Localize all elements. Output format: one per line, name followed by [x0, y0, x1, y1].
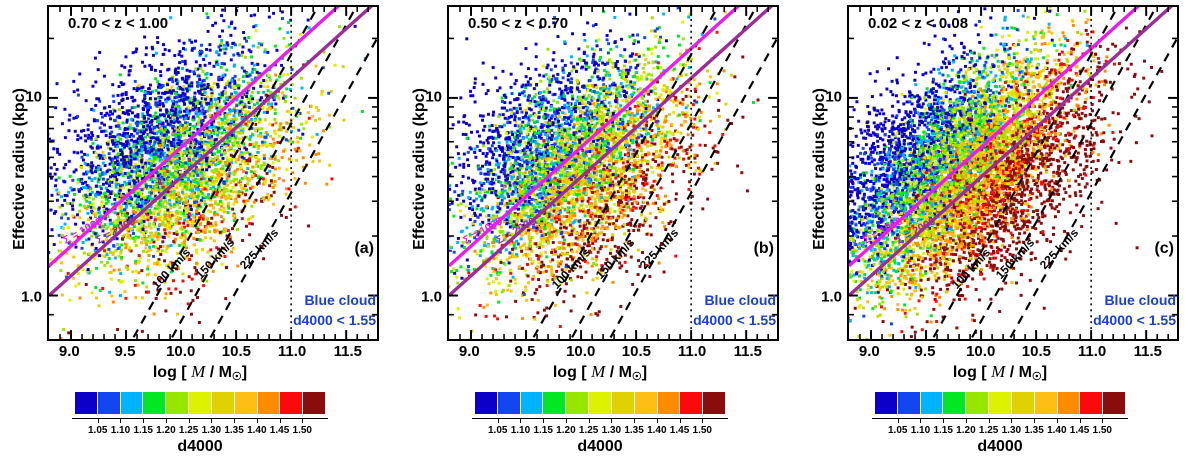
colorbar-tick-label: 1.25: [179, 425, 198, 436]
colorbar-swatch: [612, 392, 634, 414]
xlabel-suffix: ]: [242, 364, 247, 381]
colorbar-tick-label: 1.20: [956, 425, 975, 436]
xlabel-prefix: log [: [153, 364, 187, 381]
xlabel-suffix: ]: [642, 364, 647, 381]
colorbar-tick-label: 1.20: [556, 425, 575, 436]
colorbar-tick-label: 1.25: [579, 425, 598, 436]
panel-a: Σ = 1000Σ = 2000100 km/s150 km/s225 km/s…: [0, 0, 400, 458]
colorbar-swatch: [658, 392, 680, 414]
xlabel-sun-subscript: ☉: [632, 371, 642, 383]
xlabel-mid: / M: [1010, 364, 1032, 381]
colorbar-tick-mark: [611, 418, 612, 423]
colorbar-swatch: [566, 392, 588, 414]
colorbar-tick-label: 1.15: [933, 425, 952, 436]
colorbar-swatch: [258, 392, 280, 414]
colorbar-tick-mark: [302, 418, 303, 423]
colorbar-swatch: [966, 392, 988, 414]
x-tick-label: 11.0: [1078, 343, 1106, 360]
colorbar-swatch: [680, 392, 702, 414]
colorbar-swatch: [1035, 392, 1057, 414]
xlabel-mass-symbol: M: [991, 362, 1005, 381]
colorbar-tick-label: 1.15: [133, 425, 152, 436]
colorbar-tick-label: 1.05: [888, 425, 907, 436]
colorbar-axis-line: [72, 418, 328, 419]
x-tick-label: 9.0: [59, 343, 80, 360]
x-tick-label: 10.0: [966, 343, 995, 360]
colorbar-swatch: [498, 392, 520, 414]
xlabel-sun-subscript: ☉: [232, 371, 242, 383]
legend-line1: Blue cloud: [293, 290, 376, 310]
colorbar-swatch: [475, 392, 497, 414]
x-tick-label: 11.5: [1134, 343, 1162, 360]
colorbar-tick-mark: [543, 418, 544, 423]
colorbar-label: d4000: [800, 438, 1200, 456]
colorbar-tick-mark: [257, 418, 258, 423]
colorbar-swatch: [303, 392, 325, 414]
colorbar-swatch: [1058, 392, 1080, 414]
colorbar-tick-mark: [234, 418, 235, 423]
colorbar-tick-label: 1.45: [1070, 425, 1089, 436]
colorbar-swatch: [98, 392, 120, 414]
colorbar-axis-line: [472, 418, 728, 419]
colorbar-tick-mark: [920, 418, 921, 423]
x-tick-label: 11.0: [278, 343, 306, 360]
colorbar-swatch: [898, 392, 920, 414]
colorbar-swatch: [212, 392, 234, 414]
colorbar-tick-label: 1.35: [224, 425, 243, 436]
colorbar-tick-mark: [943, 418, 944, 423]
x-tick-label: 10.0: [566, 343, 595, 360]
colorbar-swatch: [75, 392, 97, 414]
panel-c: Σ = 1000Σ = 2000100 km/s150 km/s225 km/s…: [800, 0, 1200, 458]
colorbar-tick-label: 1.45: [270, 425, 289, 436]
colorbar-tick-label: 1.05: [488, 425, 507, 436]
redshift-range-label-c: 0.02 < z < 0.08: [868, 15, 968, 32]
xlabel-suffix: ]: [1042, 364, 1047, 381]
y-axis-label: Effective radius (kpc): [11, 14, 29, 324]
colorbar-tick-label: 1.05: [88, 425, 107, 436]
legend-line1: Blue cloud: [1093, 290, 1176, 310]
y-axis-label: Effective radius (kpc): [811, 14, 829, 324]
colorbar-tick-mark: [166, 418, 167, 423]
colorbar-tick-mark: [189, 418, 190, 423]
colorbar-label: d4000: [400, 438, 800, 456]
xlabel-prefix: log [: [953, 364, 987, 381]
colorbar-tick-label: 1.20: [156, 425, 175, 436]
panel-b: Σ = 1000Σ = 2000100 km/s150 km/s225 km/s…: [400, 0, 800, 458]
colorbar-label: d4000: [0, 438, 400, 456]
x-tick-label: 10.5: [622, 343, 651, 360]
legend-a: Blue cloudd4000 < 1.55: [293, 290, 376, 331]
legend-line2: d4000 < 1.55: [1093, 310, 1176, 330]
colorbar-tick-label: 1.30: [602, 425, 621, 436]
x-tick-label: 11.5: [734, 343, 762, 360]
colorbar-tick-mark: [989, 418, 990, 423]
x-tick-label: 9.5: [915, 343, 936, 360]
legend-line2: d4000 < 1.55: [293, 310, 376, 330]
panel-letter-c: (c): [1154, 240, 1174, 258]
colorbar-tick-mark: [680, 418, 681, 423]
colorbar-tick-mark: [966, 418, 967, 423]
colorbar-tick-mark: [1080, 418, 1081, 423]
colorbar-tick-label: 1.10: [111, 425, 130, 436]
colorbar-swatch: [1103, 392, 1125, 414]
colorbar-tick-mark: [634, 418, 635, 423]
panel-letter-b: (b): [754, 240, 774, 258]
x-tick-label: 9.5: [115, 343, 136, 360]
colorbar-swatch: [143, 392, 165, 414]
colorbar-tick-label: 1.15: [533, 425, 552, 436]
colorbar-tick-label: 1.30: [1002, 425, 1021, 436]
colorbar-tick-label: 1.40: [647, 425, 666, 436]
colorbar-tick-label: 1.50: [693, 425, 712, 436]
colorbar-tick-mark: [98, 418, 99, 423]
colorbar-swatch: [703, 392, 725, 414]
colorbar-tick-label: 1.10: [511, 425, 530, 436]
legend-c: Blue cloudd4000 < 1.55: [1093, 290, 1176, 331]
xlabel-mass-symbol: M: [191, 362, 205, 381]
colorbar-b: [475, 392, 725, 414]
colorbar-swatch: [280, 392, 302, 414]
colorbar-tick-mark: [211, 418, 212, 423]
colorbar-a: [75, 392, 325, 414]
figure-root: Σ = 1000Σ = 2000100 km/s150 km/s225 km/s…: [0, 0, 1200, 458]
colorbar-swatch: [921, 392, 943, 414]
x-axis-label: log [ M / M☉]: [800, 362, 1200, 383]
colorbar-tick-label: 1.50: [293, 425, 312, 436]
colorbar-tick-label: 1.50: [1093, 425, 1112, 436]
colorbar-tick-mark: [589, 418, 590, 423]
legend-b: Blue cloudd4000 < 1.55: [693, 290, 776, 331]
colorbar-tick-label: 1.30: [202, 425, 221, 436]
colorbar-tick-label: 1.45: [670, 425, 689, 436]
colorbar-swatch: [189, 392, 211, 414]
x-axis-label: log [ M / M☉]: [400, 362, 800, 383]
xlabel-mid: / M: [210, 364, 232, 381]
colorbar-axis-line: [872, 418, 1128, 419]
y-axis-label: Effective radius (kpc): [411, 14, 429, 324]
x-tick-label: 9.5: [515, 343, 536, 360]
x-tick-label: 9.0: [859, 343, 880, 360]
colorbar-tick-mark: [566, 418, 567, 423]
xlabel-mid: / M: [610, 364, 632, 381]
x-tick-label: 11.0: [678, 343, 706, 360]
colorbar-tick-label: 1.25: [979, 425, 998, 436]
colorbar-swatch: [166, 392, 188, 414]
x-tick-label: 10.0: [166, 343, 195, 360]
colorbar-swatch: [1012, 392, 1034, 414]
redshift-range-label-b: 0.50 < z < 0.70: [468, 15, 568, 32]
colorbar-tick-mark: [280, 418, 281, 423]
colorbar-tick-label: 1.10: [911, 425, 930, 436]
legend-line2: d4000 < 1.55: [693, 310, 776, 330]
colorbar-tick-mark: [1034, 418, 1035, 423]
colorbar-tick-mark: [702, 418, 703, 423]
colorbar-swatch: [635, 392, 657, 414]
x-tick-label: 9.0: [459, 343, 480, 360]
colorbar-swatch: [1080, 392, 1102, 414]
colorbar-c: [875, 392, 1125, 414]
colorbar-tick-label: 1.35: [1024, 425, 1043, 436]
colorbar-tick-mark: [498, 418, 499, 423]
colorbar-tick-mark: [143, 418, 144, 423]
colorbar-tick-mark: [520, 418, 521, 423]
colorbar-swatch: [235, 392, 257, 414]
x-axis-label: log [ M / M☉]: [0, 362, 400, 383]
colorbar-swatch: [989, 392, 1011, 414]
colorbar-swatch: [589, 392, 611, 414]
colorbar-tick-mark: [1011, 418, 1012, 423]
colorbar-swatch: [943, 392, 965, 414]
x-tick-label: 11.5: [334, 343, 362, 360]
colorbar-tick-label: 1.35: [624, 425, 643, 436]
panel-letter-a: (a): [354, 240, 374, 258]
colorbar-swatch: [121, 392, 143, 414]
colorbar-swatch: [521, 392, 543, 414]
redshift-range-label-a: 0.70 < z < 1.00: [68, 15, 168, 32]
colorbar-tick-label: 1.40: [247, 425, 266, 436]
colorbar-tick-mark: [898, 418, 899, 423]
colorbar-tick-mark: [657, 418, 658, 423]
colorbar-tick-label: 1.40: [1047, 425, 1066, 436]
xlabel-sun-subscript: ☉: [1032, 371, 1042, 383]
colorbar-swatch: [875, 392, 897, 414]
x-tick-label: 10.5: [1022, 343, 1051, 360]
xlabel-mass-symbol: M: [591, 362, 605, 381]
x-tick-label: 10.5: [222, 343, 251, 360]
colorbar-swatch: [543, 392, 565, 414]
xlabel-prefix: log [: [553, 364, 587, 381]
colorbar-tick-mark: [120, 418, 121, 423]
colorbar-tick-mark: [1102, 418, 1103, 423]
colorbar-tick-mark: [1057, 418, 1058, 423]
legend-line1: Blue cloud: [693, 290, 776, 310]
